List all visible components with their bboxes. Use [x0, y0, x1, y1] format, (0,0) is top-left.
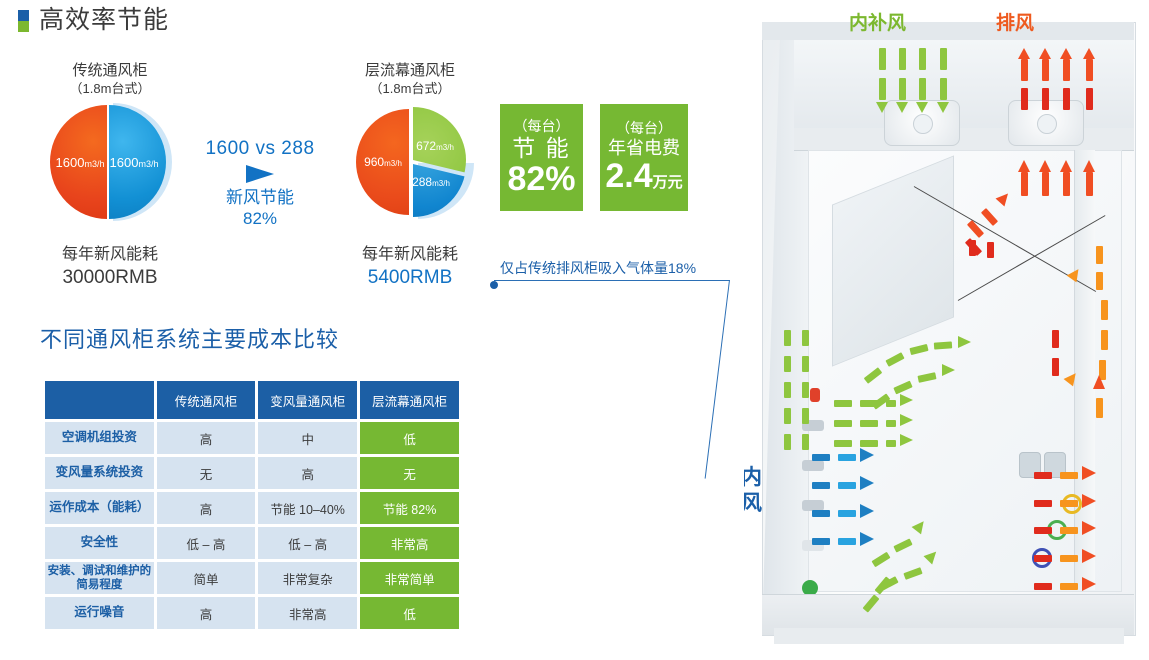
table-row: 运行噪音 高 非常高 低	[45, 597, 459, 629]
table-row: 变风量系统投资 无 高 无	[45, 457, 459, 489]
row-cell: 高	[258, 457, 357, 489]
page-title: 高效率节能	[39, 8, 169, 33]
pie-graphic-laminar: 960m3/h 672m3/h 288m3/h	[340, 103, 480, 221]
comparison-sub1: 新风节能	[190, 187, 330, 208]
row-label: 空调机组投资	[45, 422, 154, 454]
row-label: 运行噪音	[45, 597, 154, 629]
table-row: 安装、调试和维护的简易程度 简单 非常复杂 非常简单	[45, 562, 459, 594]
table-row: 安全性 低 – 高 低 – 高 非常高	[45, 527, 459, 559]
row-cell: 简单	[157, 562, 256, 594]
table-header-vav: 变风量通风柜	[258, 381, 357, 419]
row-cell: 高	[157, 597, 256, 629]
table-row: 空调机组投资 高 中 低	[45, 422, 459, 454]
row-cell: 低 – 高	[258, 527, 357, 559]
row-cell: 非常复杂	[258, 562, 357, 594]
arrow-right-icon	[246, 165, 274, 183]
table-row: 运作成本（能耗） 高 节能 10–40% 节能 82%	[45, 492, 459, 524]
callout-dot-icon	[490, 281, 498, 289]
row-cell: 无	[157, 457, 256, 489]
row-cell: 节能 10–40%	[258, 492, 357, 524]
row-cell-best: 无	[360, 457, 459, 489]
service-fitting	[802, 460, 824, 471]
pie-footer-laminar: 每年新风能耗 5400RMB	[320, 245, 500, 290]
row-cell-best: 非常高	[360, 527, 459, 559]
label-exhaust-air: 排风	[996, 8, 1034, 35]
hood-base-foot	[774, 628, 1124, 644]
row-cell: 低 – 高	[157, 527, 256, 559]
callout-label: 仅占传统排风柜吸入气体量18%	[500, 258, 696, 278]
badge-annual-savings: （每台） 年省电费 2.4万元	[600, 104, 688, 211]
service-fitting-red	[810, 388, 820, 402]
label-indoor-fresh-air: 室内 新风	[744, 465, 762, 518]
row-label: 安全性	[45, 527, 154, 559]
row-cell-best: 节能 82%	[360, 492, 459, 524]
row-cell-best: 非常简单	[360, 562, 459, 594]
table-header-laminar: 层流幕通风柜	[360, 381, 459, 419]
comparison-headline: 1600 vs 288	[190, 138, 330, 160]
callout-leader-line-vertical	[705, 280, 730, 479]
header-marker-icon	[18, 10, 29, 32]
row-cell-best: 低	[360, 422, 459, 454]
row-cell: 中	[258, 422, 357, 454]
pie-chart-traditional: 传统通风柜 （1.8m台式） 1600m3/h 1600m3/h 每年新风能耗 …	[24, 62, 196, 290]
callout-leader-line	[494, 280, 730, 281]
comparison-block: 1600 vs 288 新风节能 82%	[190, 138, 330, 230]
infographic-page: 高效率节能 传统通风柜 （1.8m台式） 1600m3/h 1600m3/h 每…	[0, 0, 1149, 660]
pie-label-blue: 288m3/h	[402, 175, 460, 189]
table-header-row: 传统通风柜 变风量通风柜 层流幕通风柜	[45, 381, 459, 419]
row-cell: 非常高	[258, 597, 357, 629]
pie-label-left: 1600m3/h	[54, 155, 106, 170]
pie-footer-traditional: 每年新风能耗 30000RMB	[24, 245, 196, 290]
badge-energy-saving: （每台） 节 能 82%	[500, 104, 583, 211]
pie-label-green: 672m3/h	[406, 139, 464, 153]
cost-comparison-table: 传统通风柜 变风量通风柜 层流幕通风柜 空调机组投资 高 中 低 变风量系统投资…	[42, 378, 462, 632]
pie-label-orange: 960m3/h	[354, 155, 412, 169]
row-label: 运作成本（能耗）	[45, 492, 154, 524]
pie-chart-laminar: 层流幕通风柜 （1.8m台式） 960m3/h 672m3/h 288m3/h …	[320, 62, 500, 290]
table-header-blank	[45, 381, 154, 419]
table-header-traditional: 传统通风柜	[157, 381, 256, 419]
row-label: 安装、调试和维护的简易程度	[45, 562, 154, 594]
page-header: 高效率节能	[18, 8, 169, 33]
fume-hood-illustration: 内补风 排风 室内 新风	[744, 0, 1149, 660]
badge-value: 2.4万元	[605, 159, 682, 195]
hood-top-band	[762, 22, 1134, 40]
row-cell: 高	[157, 422, 256, 454]
pie-graphic-traditional: 1600m3/h 1600m3/h	[40, 103, 180, 221]
row-cell-best: 低	[360, 597, 459, 629]
label-internal-supply-air: 内补风	[849, 8, 906, 35]
pie-label-right: 1600m3/h	[106, 155, 162, 170]
pie-caption-laminar: 层流幕通风柜 （1.8m台式）	[320, 62, 500, 97]
comparison-sub2: 82%	[190, 208, 330, 229]
table-title: 不同通风柜系统主要成本比较	[40, 322, 339, 354]
pie-caption-traditional: 传统通风柜 （1.8m台式）	[24, 62, 196, 97]
row-cell: 高	[157, 492, 256, 524]
row-label: 变风量系统投资	[45, 457, 154, 489]
